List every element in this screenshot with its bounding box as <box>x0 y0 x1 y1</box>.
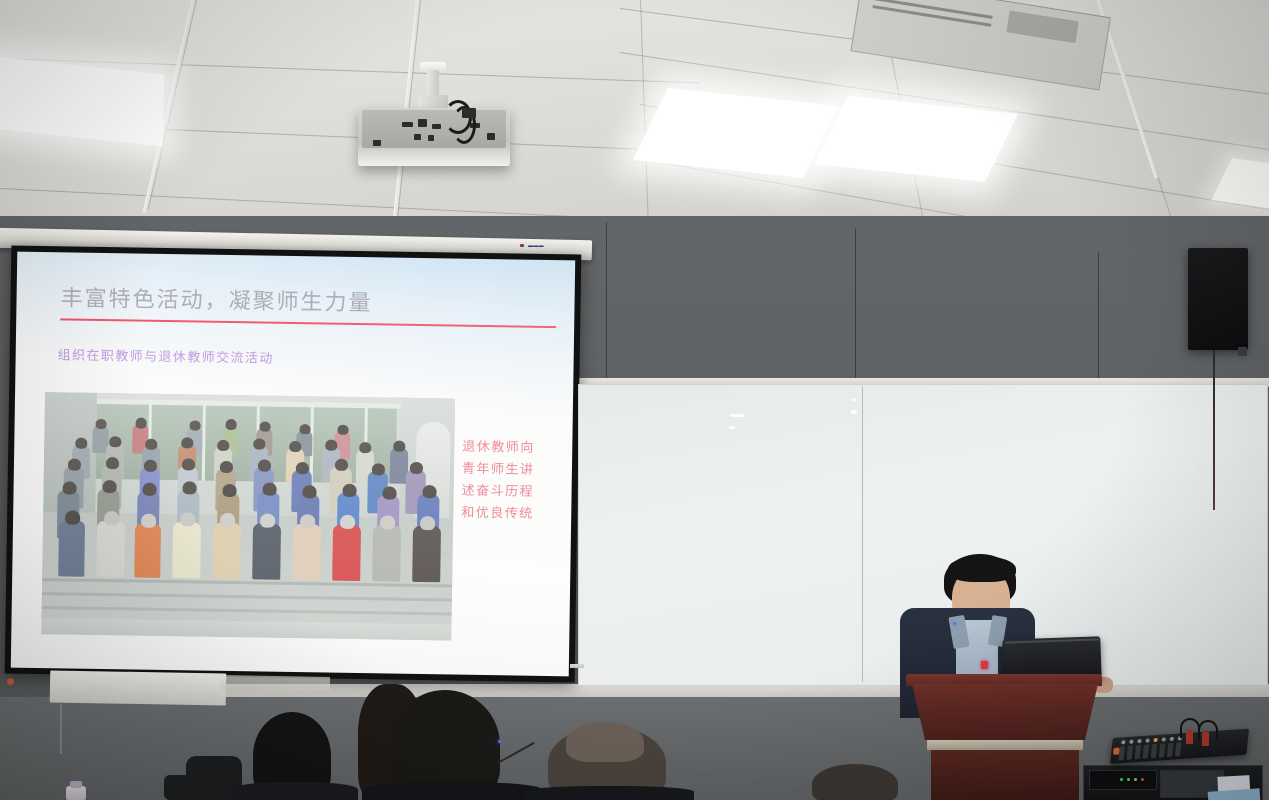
wall-seam <box>855 228 856 378</box>
loudspeaker-logo <box>1238 347 1247 356</box>
projector-mount-rod <box>427 70 439 98</box>
podium-accent-band <box>927 740 1083 750</box>
mixer-cable <box>1198 720 1218 740</box>
gooseneck-microphone[interactable] <box>478 735 496 753</box>
slide-subtitle: 组织在职教师与退休教师交流活动 <box>58 344 274 366</box>
projector-port <box>402 122 413 127</box>
slide-title: 丰富特色活动，凝聚师生力量 <box>60 280 372 317</box>
annotation-line: 和优良传统 <box>461 503 534 526</box>
whiteboard-glint <box>729 426 735 429</box>
ceiling-ac-cassette <box>850 0 1110 91</box>
audience-shoulder <box>362 782 542 800</box>
projector-port <box>487 133 495 140</box>
projector-port <box>373 140 381 146</box>
whiteboard-glint <box>852 398 856 401</box>
loudspeaker-cable <box>1213 350 1215 510</box>
wall-seam <box>606 222 607 382</box>
rack-led <box>1134 778 1137 781</box>
mixer-cable <box>1180 718 1200 738</box>
slide-annotation: 退休教师向 青年师生讲 述奋斗历程 和优良传统 <box>461 437 535 526</box>
roller-logo-dot <box>520 244 524 247</box>
annotation-line: 述奋斗历程 <box>461 481 534 504</box>
projector-cable-connector <box>462 108 476 118</box>
projection-screen-bottom-bar <box>220 675 330 691</box>
podium <box>912 684 1098 740</box>
whiteboard-marker-tray <box>570 664 584 668</box>
audience-chair <box>164 775 204 800</box>
ceiling-light-panel <box>0 56 164 146</box>
rack-mounted-amplifier <box>1089 770 1157 790</box>
projector-port <box>418 119 427 127</box>
screen-cord <box>60 704 62 754</box>
projection-screen-bottom-bar <box>50 670 227 705</box>
suspended-ceiling <box>0 0 1269 250</box>
presenter-mic-led <box>953 622 956 625</box>
audience-shoulder <box>524 786 694 800</box>
water-bottle-cap <box>70 781 82 788</box>
whiteboard-glint <box>851 410 857 414</box>
microphone-led <box>498 740 501 743</box>
podium-base <box>931 750 1079 800</box>
rack-led <box>1120 778 1123 781</box>
audience-head-crown <box>566 722 644 762</box>
annotation-line: 青年师生讲 <box>462 459 535 482</box>
presenter-lapel-badge <box>981 661 988 669</box>
audience-shoulder <box>232 782 358 800</box>
wall-loudspeaker <box>1188 248 1248 350</box>
projector-connector-panel <box>362 110 506 148</box>
presenter-hair-fringe <box>948 556 1016 582</box>
whiteboard-seam <box>862 386 863 682</box>
projector-port <box>414 134 421 140</box>
ceiling-light-panel <box>815 96 1018 182</box>
roller-brand-logo: ▬▬▬ <box>528 243 544 249</box>
whiteboard-glint <box>730 414 744 417</box>
ceiling-light-panel <box>633 88 838 178</box>
projector-mount-arm <box>418 95 448 108</box>
screen-wall-fixing <box>7 678 14 685</box>
slide-title-rule <box>60 318 556 328</box>
slide-group-photo <box>41 392 455 640</box>
projection-screen: 丰富特色活动，凝聚师生力量 组织在职教师与退休教师交流活动 <box>11 252 575 677</box>
projector-port <box>428 135 434 141</box>
projector-port <box>432 124 441 129</box>
audience-head <box>812 764 898 800</box>
water-bottle[interactable] <box>66 786 86 800</box>
rack-led <box>1127 778 1130 781</box>
lecture-hall-photo: ▬▬▬ 丰富特色活动，凝聚师生力量 组织在职教师与退休教师交流活动 <box>0 0 1269 800</box>
annotation-line: 退休教师向 <box>462 437 535 460</box>
rack-led <box>1141 778 1144 781</box>
